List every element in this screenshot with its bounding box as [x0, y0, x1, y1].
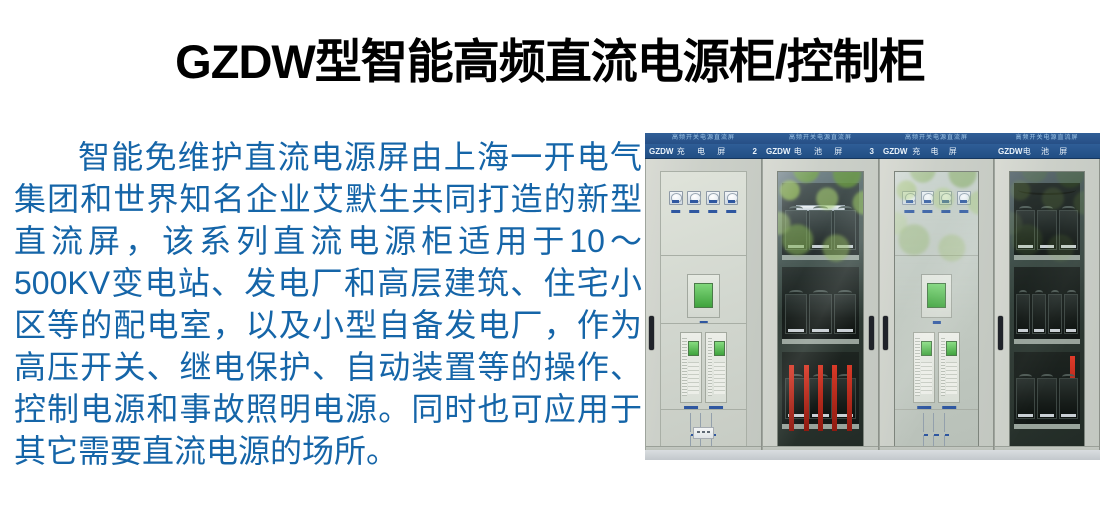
ammeter-icon: [669, 191, 683, 205]
battery-unit: [1048, 294, 1062, 334]
controller-label: [932, 321, 940, 324]
cabinet-3-handle: [883, 316, 888, 350]
description-block: 智能免维护直流电源屏由上海一开电气集团和世界知名企业艾默生共同打造的新型直流屏，…: [14, 136, 642, 472]
panel-divider: [661, 409, 746, 410]
product-photo: 高频开关电源直流屏 GZDW 充 电 屏 2: [645, 133, 1100, 460]
cabinet-2-handle: [869, 316, 874, 350]
cabinet-3: 高频开关电源直流屏 GZDW 充 电 屏: [879, 133, 994, 460]
meter-group: [669, 191, 739, 205]
product-description: 智能免维护直流电源屏由上海一开电气集团和世界知名企业艾默生共同打造的新型直流屏，…: [14, 136, 642, 472]
cabinet-1-body: [645, 159, 762, 460]
voltmeter-icon: [957, 191, 971, 205]
cabinet-4-name: 电 池 屏: [994, 144, 1100, 159]
voltmeter-icon: [687, 191, 701, 205]
cabinet-nameplate: [693, 427, 713, 439]
cabinet-4-handle: [998, 316, 1003, 350]
battery-unit: [1037, 210, 1057, 250]
panel-divider: [895, 255, 978, 256]
lcd-screen-icon: [927, 283, 946, 307]
controller-display: [921, 274, 953, 318]
cabinet-4-door: [1009, 171, 1085, 448]
panel-divider: [661, 255, 746, 256]
cabinet-2-banner: 高频开关电源直流屏 GZDW 电 池 屏 3: [762, 133, 879, 159]
floor-strip: [645, 450, 1100, 460]
battery-unit: [1032, 294, 1046, 334]
cabinet-1-handle: [649, 316, 654, 350]
controller-display: [687, 274, 719, 318]
battery-unit: [1037, 378, 1057, 418]
rectifier-module: [705, 332, 727, 404]
battery-unit: [785, 294, 808, 334]
cabinet-1-name: 充 电 屏: [645, 144, 762, 159]
battery-shelf: [1014, 267, 1081, 344]
battery-unit: [1059, 210, 1079, 250]
cabinet-1: 高频开关电源直流屏 GZDW 充 电 屏 2: [645, 133, 762, 460]
battery-unit: [809, 210, 832, 250]
cabinet-2: 高频开关电源直流屏 GZDW 电 池 屏 3: [762, 133, 879, 460]
cabinet-1-number: 2: [753, 144, 757, 159]
ammeter-icon: [706, 191, 720, 205]
red-busbar-group: [785, 365, 856, 431]
battery-unit: [1059, 378, 1079, 418]
battery-unit: [785, 210, 808, 250]
lcd-screen-icon: [694, 283, 713, 307]
cabinet-3-door: [894, 171, 979, 448]
battery-unit: [834, 294, 857, 334]
cabinet-2-door: [777, 171, 864, 448]
rectifier-module: [680, 332, 702, 404]
cabinet-1-banner-subtitle: 高频开关电源直流屏: [645, 133, 762, 144]
panel-divider: [895, 409, 978, 410]
cabinet-4-banner-subtitle: 高频开关电源直流屏: [994, 133, 1100, 144]
battery-unit: [809, 294, 832, 334]
battery-shelf: [1014, 183, 1081, 260]
cabinet-2-body: [762, 159, 879, 460]
battery-shelf: [1014, 352, 1081, 429]
cabinet-2-name: 电 池 屏: [762, 144, 879, 159]
battery-unit: [1016, 210, 1036, 250]
cabinet-1-banner: 高频开关电源直流屏 GZDW 充 电 屏 2: [645, 133, 762, 159]
rectifier-module: [938, 332, 959, 404]
cabinet-2-number: 3: [870, 144, 874, 159]
battery-unit: [834, 210, 857, 250]
voltmeter-icon: [921, 191, 935, 205]
meter-group: [902, 191, 970, 205]
battery-shelf: [782, 183, 859, 260]
cabinet-1-door: [660, 171, 747, 448]
cabinet-3-banner-subtitle: 高频开关电源直流屏: [879, 133, 994, 144]
rectifier-module: [913, 332, 934, 404]
battery-unit: [1016, 294, 1030, 334]
battery-unit: [1016, 378, 1036, 418]
rectifier-module-group: [913, 332, 960, 404]
panel-divider: [661, 323, 746, 324]
rectifier-module-group: [680, 332, 728, 404]
cabinet-3-banner: 高频开关电源直流屏 GZDW 充 电 屏: [879, 133, 994, 159]
cabinet-4-body: [994, 159, 1100, 460]
cabinet-4-banner: 高频开关电源直流屏 GZDW 电 池 屏: [994, 133, 1100, 159]
cabinet-4: 高频开关电源直流屏 GZDW 电 池 屏: [994, 133, 1100, 460]
ammeter-icon: [902, 191, 916, 205]
cabinet-2-banner-subtitle: 高频开关电源直流屏: [762, 133, 879, 144]
cabinet-3-body: [879, 159, 994, 460]
battery-shelf: [782, 267, 859, 344]
battery-unit: [1064, 294, 1078, 334]
battery-rack: [1014, 183, 1081, 439]
cabinet-3-name: 充 电 屏: [879, 144, 994, 159]
voltmeter-icon: [724, 191, 738, 205]
cabinet-lineup: 高频开关电源直流屏 GZDW 充 电 屏 2: [645, 133, 1100, 460]
page-title: GZDW型智能高频直流电源柜/控制柜: [0, 32, 1100, 92]
ammeter-icon: [939, 191, 953, 205]
